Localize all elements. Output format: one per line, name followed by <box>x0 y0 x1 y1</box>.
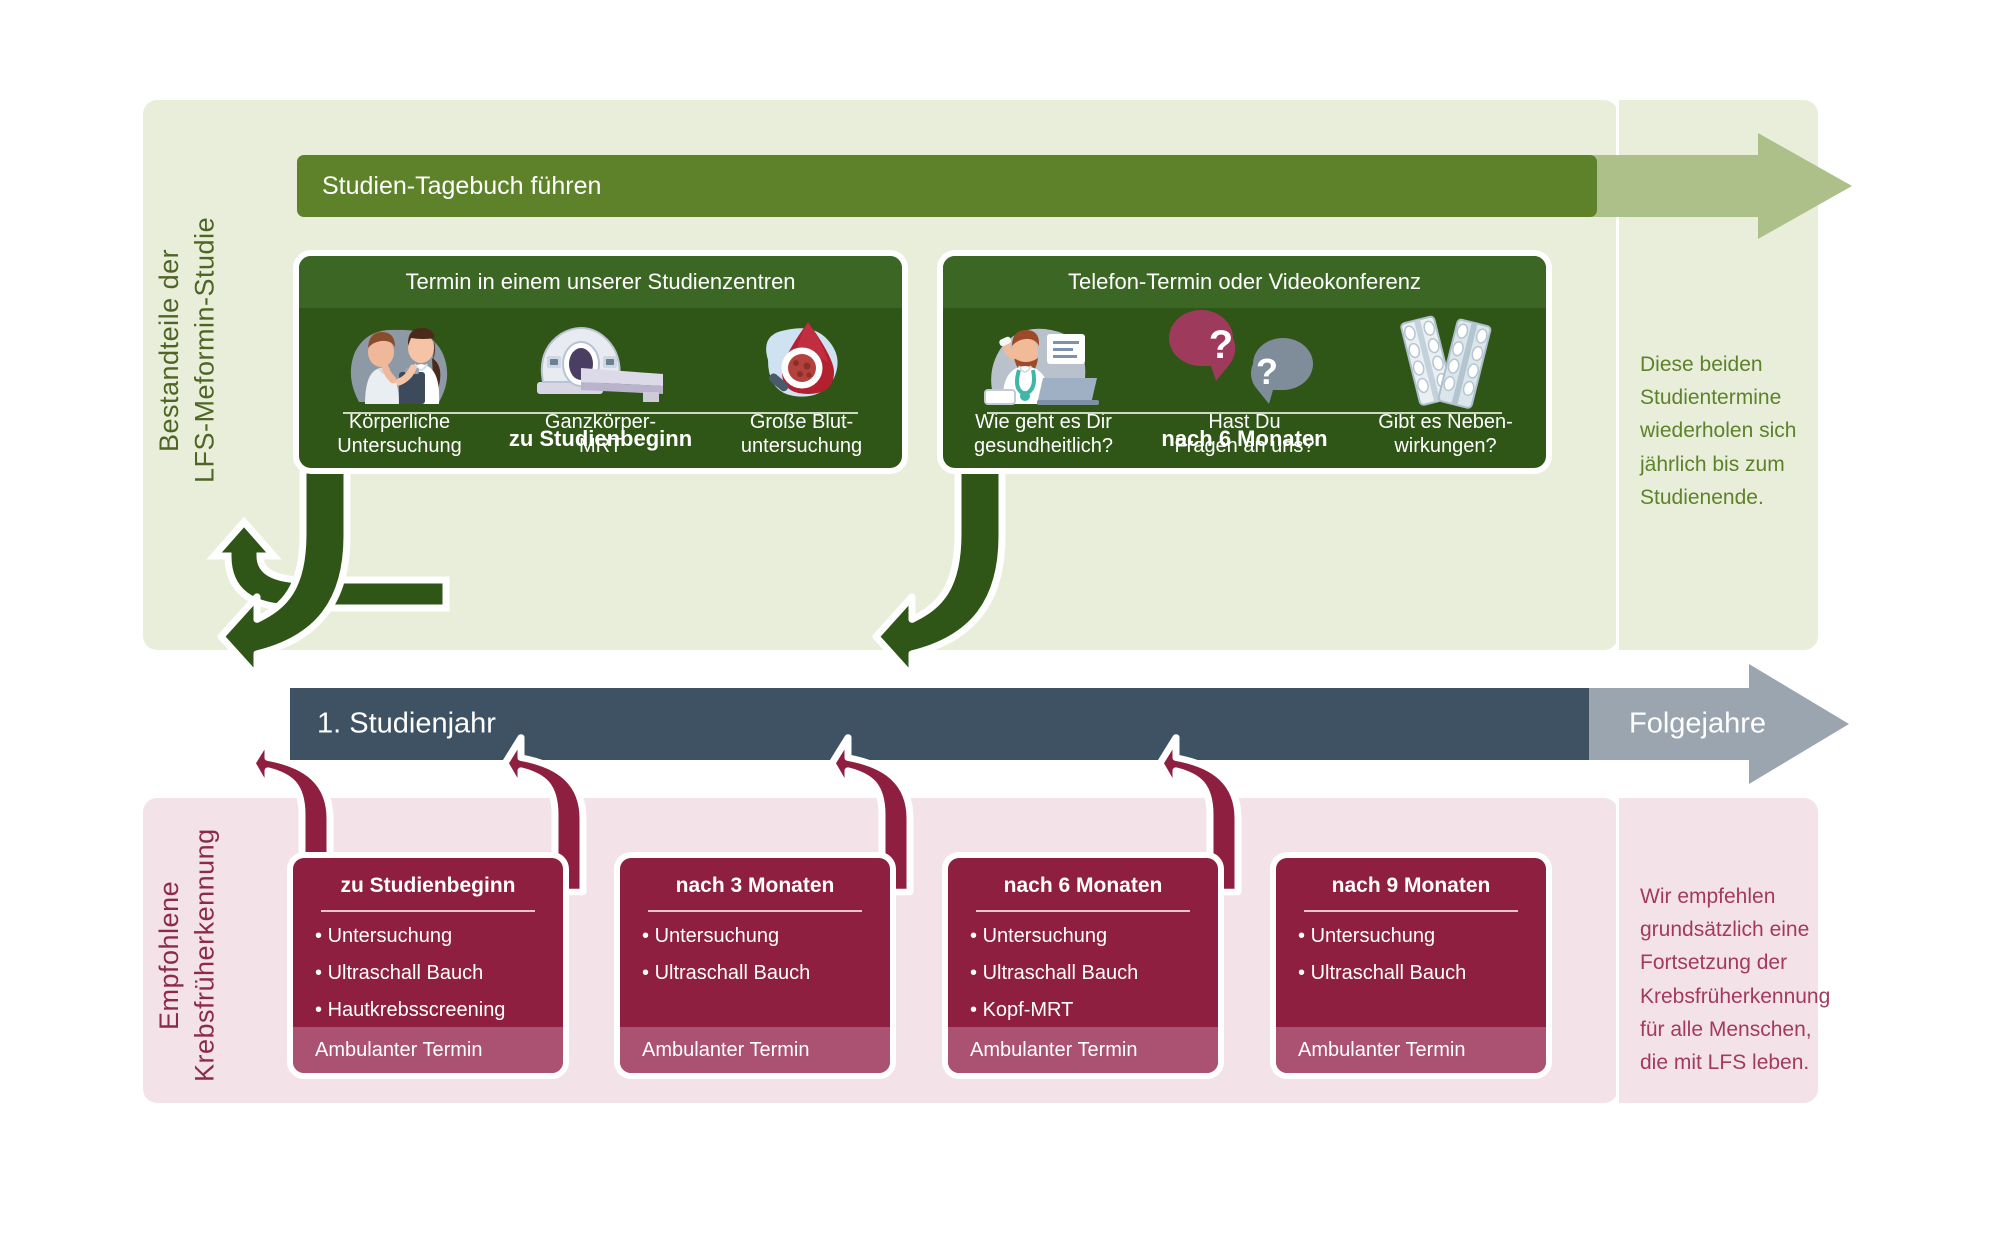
screening-section-side-label: Empfohlene Krebsfrüherkennung <box>152 790 212 1120</box>
list-item: Ultraschall Bauch <box>970 963 1218 983</box>
list-item: Ultraschall Bauch <box>642 963 890 983</box>
svg-text:?: ? <box>1256 351 1278 392</box>
screening-card-items: Untersuchung Ultraschall Bauch <box>1276 912 1546 983</box>
study-card-study-center: Termin in einem unserer Studienzentren <box>299 256 902 468</box>
screening-card-1: nach 3 Monaten Untersuchung Ultraschall … <box>620 858 890 1073</box>
list-item: Ultraschall Bauch <box>1298 963 1546 983</box>
screening-card-items: Untersuchung Ultraschall Bauch Kopf-MRT <box>948 912 1218 1020</box>
green-arrow-1-icon <box>225 440 385 710</box>
screening-card-title: nach 9 Monaten <box>1276 858 1546 898</box>
study-card-header-label: Telefon-Termin oder Videokonferenz <box>1068 269 1421 295</box>
diary-continuation-arrow-icon <box>1590 133 1860 239</box>
screening-card-items: Untersuchung Ultraschall Bauch Hautkrebs… <box>293 912 563 1020</box>
screening-card-title: nach 6 Monaten <box>948 858 1218 898</box>
study-card-footer: zu Studienbeginn <box>299 412 902 468</box>
screening-card-3: nach 9 Monaten Untersuchung Ultraschall … <box>1276 858 1546 1073</box>
screening-card-2: nach 6 Monaten Untersuchung Ultraschall … <box>948 858 1218 1073</box>
list-item: Hautkrebsscreening <box>315 1000 563 1020</box>
screening-panel-divider <box>1616 798 1619 1103</box>
study-card-footer: nach 6 Monaten <box>943 412 1546 468</box>
divider <box>987 412 1502 414</box>
green-arrow-2-icon <box>880 440 1040 710</box>
screening-card-0: zu Studienbeginn Untersuchung Ultraschal… <box>293 858 563 1073</box>
list-item: Kopf-MRT <box>970 1000 1218 1020</box>
list-item: Ultraschall Bauch <box>315 963 563 983</box>
list-item: Untersuchung <box>1298 926 1546 946</box>
study-card-footer-label: zu Studienbeginn <box>299 426 902 452</box>
study-diary-label: Studien-Tagebuch führen <box>297 172 601 201</box>
screening-card-items: Untersuchung Ultraschall Bauch <box>620 912 890 983</box>
study-section-side-label: Bestandteile der LFS-Meformin-Studie <box>152 150 212 550</box>
screening-card-footer: Ambulanter Termin <box>1276 1027 1546 1073</box>
divider <box>343 412 858 414</box>
list-item: Untersuchung <box>970 926 1218 946</box>
study-card-footer-label: nach 6 Monaten <box>943 426 1546 452</box>
timeline-current-year-label: 1. Studienjahr <box>317 708 496 741</box>
screening-card-footer: Ambulanter Termin <box>948 1027 1218 1073</box>
study-diary-bar: Studien-Tagebuch führen <box>297 155 1597 217</box>
screening-recommendation-note: Wir empfehlen grundsätzlich eine Fortset… <box>1640 880 1825 1079</box>
timeline-following-years-label: Folgejahre <box>1629 708 1766 741</box>
pill-blister-icon <box>1386 316 1506 404</box>
timeline-following-years: Folgejahre <box>1589 666 1851 782</box>
doctor-phone-icon <box>979 316 1109 404</box>
doctor-patient-icon <box>335 316 465 404</box>
study-card-header-label: Termin in einem unserer Studienzentren <box>405 269 795 295</box>
blood-drop-icon <box>742 316 862 404</box>
mri-scanner-icon <box>531 316 671 404</box>
study-card-header: Telefon-Termin oder Videokonferenz <box>943 256 1546 308</box>
study-card-header: Termin in einem unserer Studienzentren <box>299 256 902 308</box>
screening-card-title: nach 3 Monaten <box>620 858 890 898</box>
screening-card-footer: Ambulanter Termin <box>293 1027 563 1073</box>
screening-card-footer-label: Ambulanter Termin <box>1276 1039 1465 1062</box>
list-item: Untersuchung <box>642 926 890 946</box>
screening-card-title: zu Studienbeginn <box>293 858 563 898</box>
screening-card-footer: Ambulanter Termin <box>620 1027 890 1073</box>
svg-text:?: ? <box>1208 323 1232 367</box>
list-item: Untersuchung <box>315 926 563 946</box>
screening-card-footer-label: Ambulanter Termin <box>948 1039 1137 1062</box>
question-bubbles-icon: ? ? <box>1185 316 1305 404</box>
screening-card-footer-label: Ambulanter Termin <box>293 1039 482 1062</box>
study-card-telephone: Telefon-Termin oder Videokonferenz <box>943 256 1546 468</box>
screening-card-footer-label: Ambulanter Termin <box>620 1039 809 1062</box>
infographic-canvas: Bestandteile der LFS-Meformin-Studie Stu… <box>0 0 2000 1255</box>
study-repeat-note: Diese beiden Studientermine wiederholen … <box>1640 348 1825 514</box>
